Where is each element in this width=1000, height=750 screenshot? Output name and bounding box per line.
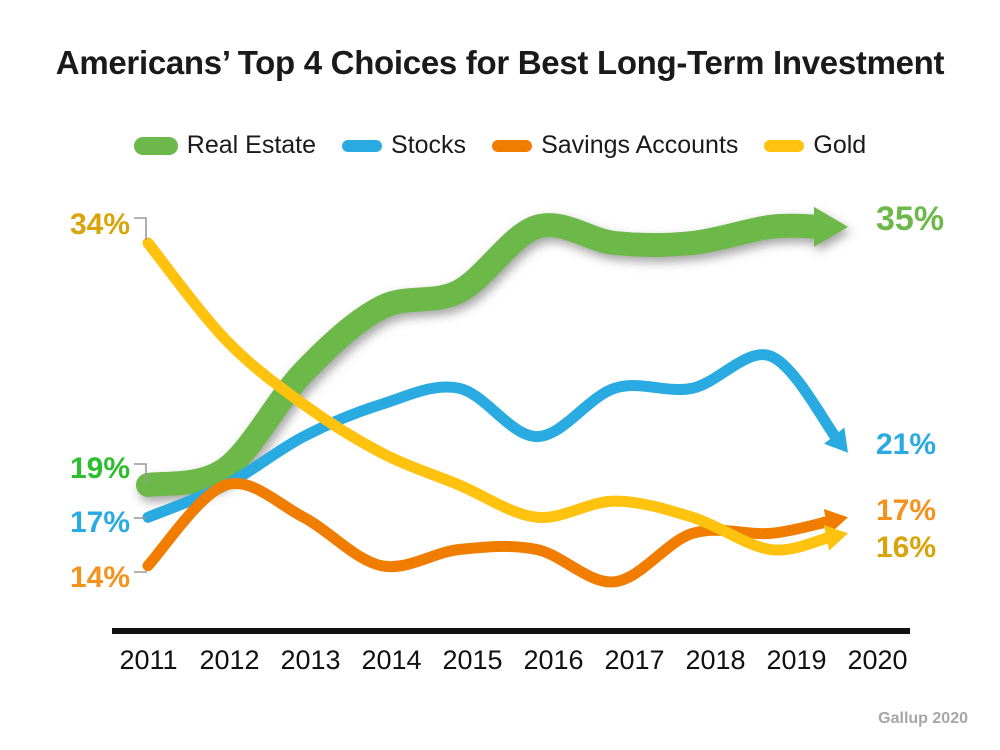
x-axis-line [112,628,910,634]
chart-plot-area [0,0,1000,750]
series-real-estate [148,207,848,485]
x-tick-2015: 2015 [432,645,513,676]
chart-canvas: Americans’ Top 4 Choices for Best Long-T… [0,0,1000,750]
gold-start-label: 34% [0,208,130,242]
stocks-end-label: 21% [876,428,936,462]
real-estate-start-label: 19% [0,452,130,486]
x-axis-tick-labels: 2011 2012 2013 2014 2015 2016 2017 2018 … [108,645,918,676]
x-tick-2018: 2018 [675,645,756,676]
x-tick-2017: 2017 [594,645,675,676]
source-note: Gallup 2020 [878,710,968,728]
x-tick-2019: 2019 [756,645,837,676]
x-tick-2013: 2013 [270,645,351,676]
savings-end-label: 17% [876,494,936,528]
real-estate-end-label: 35% [876,200,944,239]
x-tick-2014: 2014 [351,645,432,676]
x-tick-2016: 2016 [513,645,594,676]
series-end-arrow-icon [824,525,848,550]
x-tick-2020: 2020 [837,645,918,676]
series-end-arrow-icon [814,207,848,247]
stocks-start-label: 17% [0,506,130,540]
savings-start-label: 14% [0,561,130,595]
series-line [148,243,830,550]
x-tick-2011: 2011 [108,645,189,676]
series-gold [148,243,848,551]
x-tick-2012: 2012 [189,645,270,676]
gold-end-label: 16% [876,531,936,565]
